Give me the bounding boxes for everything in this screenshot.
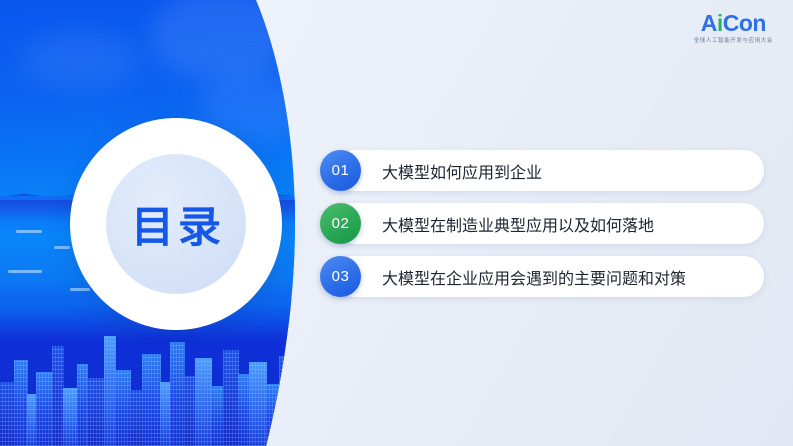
agenda-item-label: 大模型如何应用到企业 bbox=[382, 150, 542, 191]
agenda-list: 01 大模型如何应用到企业 02 大模型在制造业典型应用以及如何落地 03 大模… bbox=[320, 150, 764, 309]
slide-canvas: 目录 01 大模型如何应用到企业 02 大模型在制造业典型应用以及如何落地 03… bbox=[0, 0, 793, 446]
agenda-item-label: 大模型在制造业典型应用以及如何落地 bbox=[382, 203, 654, 244]
cloud-decor bbox=[20, 30, 140, 90]
boat-decor bbox=[16, 230, 42, 233]
agenda-number-badge: 02 bbox=[320, 203, 361, 244]
page-title: 目录 bbox=[106, 154, 246, 294]
agenda-item-label: 大模型在企业应用会遇到的主要问题和对策 bbox=[382, 256, 686, 297]
list-item[interactable]: 02 大模型在制造业典型应用以及如何落地 bbox=[320, 203, 764, 244]
boat-decor bbox=[54, 246, 70, 249]
logo-letter-a: A bbox=[701, 10, 717, 36]
aicon-logo: AiCon 全球人工智能开发与应用大会 bbox=[694, 12, 773, 45]
list-item[interactable]: 03 大模型在企业应用会遇到的主要问题和对策 bbox=[320, 256, 764, 297]
agenda-number-badge: 01 bbox=[320, 150, 361, 191]
boat-decor bbox=[8, 270, 42, 273]
list-item[interactable]: 01 大模型如何应用到企业 bbox=[320, 150, 764, 191]
logo-subtitle: 全球人工智能开发与应用大会 bbox=[694, 39, 773, 45]
logo-wordmark: AiCon bbox=[694, 12, 773, 35]
agenda-number-badge: 03 bbox=[320, 256, 361, 297]
boat-decor bbox=[70, 288, 90, 291]
logo-letters-con: Con bbox=[723, 10, 766, 36]
